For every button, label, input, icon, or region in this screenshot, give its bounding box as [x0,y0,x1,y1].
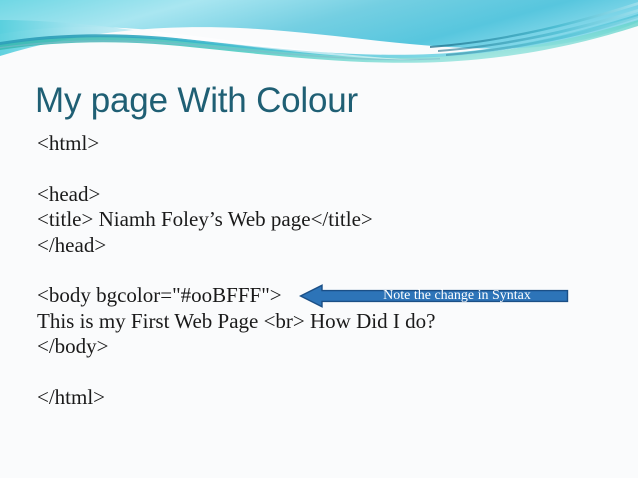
callout-label: Note the change in Syntax [345,284,569,308]
code-line-blank [37,156,617,181]
code-line: </head> [37,233,617,258]
code-line: This is my First Web Page <br> How Did I… [37,309,617,334]
code-line-blank [37,258,617,283]
code-line: <head> [37,182,617,207]
code-line: </html> [37,385,617,410]
code-line-blank [37,360,617,385]
wave-banner-graphic [0,0,638,86]
presentation-slide: My page With Colour <html> <head> <title… [0,0,638,478]
code-block: <html> <head> <title> Niamh Foley’s Web … [37,131,617,410]
page-title: My page With Colour [35,80,605,122]
code-line: </body> [37,334,617,359]
code-line: <html> [37,131,617,156]
callout-arrow-banner: Note the change in Syntax [299,284,569,308]
code-line: <title> Niamh Foley’s Web page</title> [37,207,617,232]
